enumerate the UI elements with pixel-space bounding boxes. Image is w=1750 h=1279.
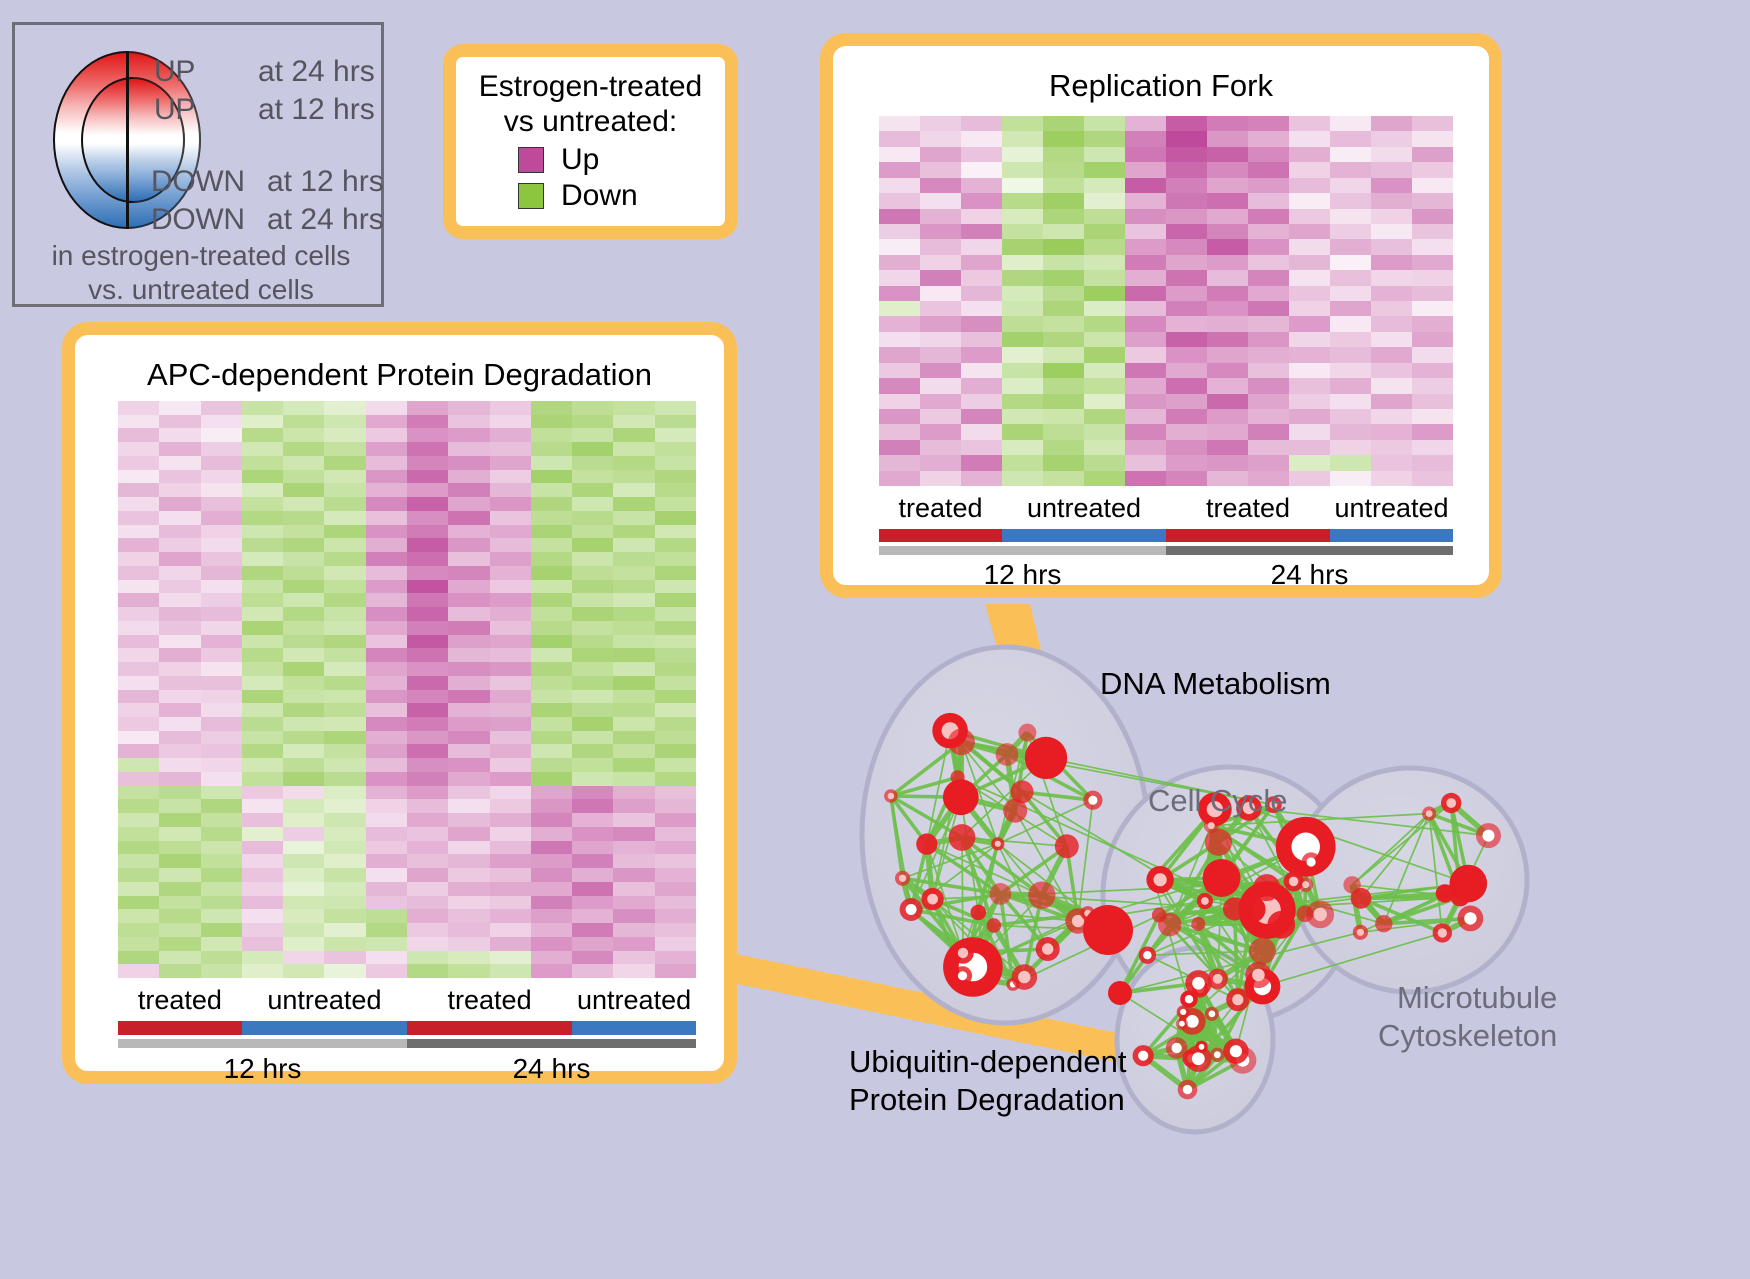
heatmap-cell [1330, 286, 1371, 301]
heatmap-cell [1207, 440, 1248, 455]
network-node [948, 729, 975, 756]
heatmap-cell [1248, 332, 1289, 347]
heatmap-cell [490, 841, 531, 855]
network-edge [1235, 884, 1469, 909]
network-edge [1361, 897, 1460, 898]
network-edge [1198, 881, 1293, 924]
network-edge [1000, 894, 1047, 949]
heatmap-cell [655, 882, 696, 896]
network-edge [1352, 885, 1360, 933]
heatmap-cell [159, 813, 200, 827]
wheel-center-divider [126, 51, 129, 229]
heatmap-cell [1248, 363, 1289, 378]
network-edge [1211, 826, 1234, 909]
heatmap-cell [1166, 286, 1207, 301]
network-edge [1213, 847, 1306, 886]
network-edge [1027, 733, 1066, 847]
heatmap-cell [879, 363, 920, 378]
network-edge [903, 878, 933, 899]
heatmap-cell [1330, 409, 1371, 424]
network-edge [958, 742, 962, 777]
network-edge [933, 899, 1025, 977]
heatmap-cell [366, 566, 407, 580]
network-edge [1177, 989, 1200, 1048]
network-edge [1183, 999, 1189, 1012]
heatmap-cell [159, 827, 200, 841]
heatmap-cell [448, 593, 489, 607]
network-edge [961, 797, 1015, 811]
network-edge [1258, 881, 1293, 975]
network-edge [1120, 915, 1159, 993]
heatmap-cell [159, 580, 200, 594]
wheel-label-down-24: DOWN [151, 203, 245, 237]
heatmap-cell [531, 896, 572, 910]
heatmap-cell [1371, 471, 1412, 486]
network-node-center [1088, 796, 1097, 805]
network-node [1083, 905, 1133, 955]
network-edge [1305, 914, 1320, 915]
heatmap-cell [283, 648, 324, 662]
heatmap-cell [1289, 147, 1330, 162]
heatmap-cell [531, 428, 572, 442]
heatmap-cell [201, 580, 242, 594]
heatmap-cell [118, 607, 159, 621]
heatmap-cell [1371, 332, 1412, 347]
heatmap-cell [283, 690, 324, 704]
heatmap-cell [961, 440, 1002, 455]
network-edge [1022, 792, 1067, 846]
network-edge [1213, 886, 1235, 909]
heatmap-cell [201, 538, 242, 552]
heatmap-cell [201, 854, 242, 868]
network-edge [1170, 925, 1238, 1000]
heatmap-cell [1371, 455, 1412, 470]
heatmap-cell [1125, 131, 1166, 146]
network-edge [1192, 1021, 1201, 1046]
heatmap-cell [961, 116, 1002, 131]
heatmap-cell [879, 455, 920, 470]
heatmap-cell [879, 471, 920, 486]
network-node [1191, 917, 1205, 931]
network-edge [1429, 814, 1468, 884]
heatmap-cell [1289, 455, 1330, 470]
heatmap-cell [118, 882, 159, 896]
heatmap-cell [490, 415, 531, 429]
heatmap-cell [283, 882, 324, 896]
heatmap-cell [1330, 378, 1371, 393]
heatmap-cell [1412, 239, 1453, 254]
heatmap-cell [613, 566, 654, 580]
heatmap-cell [961, 193, 1002, 208]
heatmap-cell [490, 703, 531, 717]
heatmap-cell [961, 301, 1002, 316]
heatmap-cell [448, 868, 489, 882]
heatmap-cell [1412, 116, 1453, 131]
heatmap-cell [201, 964, 242, 978]
heatmap-cell [118, 937, 159, 951]
network-edge [1205, 888, 1267, 901]
network-node [991, 837, 1004, 850]
network-edge [1267, 862, 1311, 910]
heatmap-cell [572, 456, 613, 470]
network-edge [963, 976, 1014, 985]
heatmap-cell [961, 332, 1002, 347]
cluster-label-dna-metabolism: DNA Metabolism [1100, 666, 1331, 702]
heatmap-cell [613, 744, 654, 758]
heatmap-cell [448, 717, 489, 731]
heatmap-cell [920, 193, 961, 208]
network-edge [1213, 885, 1306, 886]
heatmap-cell [118, 703, 159, 717]
heatmap-cell [283, 758, 324, 772]
heatmap-cell [242, 415, 283, 429]
network-edge [1451, 803, 1468, 884]
heatmap-cell [531, 799, 572, 813]
heatmap-cell [283, 937, 324, 951]
heatmap-cell [490, 964, 531, 978]
heatmap-cell [366, 690, 407, 704]
heatmap-cell [407, 511, 448, 525]
network-edge [1252, 909, 1258, 975]
heatmap-cell [1125, 209, 1166, 224]
heatmap-cell [1330, 224, 1371, 239]
network-edge [1154, 878, 1268, 911]
heatmap-cell [1002, 178, 1043, 193]
network-edge [1160, 880, 1252, 910]
network-edge [1024, 895, 1042, 977]
network-edge [1189, 999, 1217, 1054]
heatmap-cell [407, 580, 448, 594]
network-edge [998, 733, 1028, 844]
heatmap-cell [407, 717, 448, 731]
heatmap-cell [1289, 209, 1330, 224]
heatmap-cell [159, 497, 200, 511]
heatmap-cell [201, 703, 242, 717]
wheel-time-up-24: at 24 hrs [258, 55, 375, 89]
heatmap-cell [490, 772, 531, 786]
heatmap-cell [1371, 440, 1412, 455]
network-edge [1147, 951, 1262, 955]
network-edge [1048, 921, 1078, 949]
heatmap-cell [879, 178, 920, 193]
heatmap-cell [118, 923, 159, 937]
heatmap-cell [572, 744, 613, 758]
network-edge [933, 797, 961, 899]
heatmap-cell [407, 552, 448, 566]
heatmap-cell [118, 428, 159, 442]
heatmap-cell [366, 937, 407, 951]
heatmap-cell [920, 409, 961, 424]
network-edge [963, 894, 1001, 976]
heatmap-cell [407, 497, 448, 511]
network-node [1253, 874, 1280, 901]
heatmap-cell [1371, 378, 1412, 393]
heatmap-cell [879, 131, 920, 146]
heatmap-cell [407, 827, 448, 841]
network-edge [1200, 989, 1217, 1054]
network-node-center [1314, 908, 1327, 921]
network-edge [1294, 881, 1305, 913]
heatmap-cell [242, 717, 283, 731]
heatmap-cell [1043, 363, 1084, 378]
network-edge [1217, 1051, 1236, 1055]
network-node [1158, 913, 1182, 937]
heatmap-cell [366, 552, 407, 566]
heatmap-cell [324, 401, 365, 415]
heatmap-cell [572, 552, 613, 566]
heatmap-cell [1207, 286, 1248, 301]
network-node-center [1302, 881, 1309, 888]
heatmap-cell [920, 378, 961, 393]
network-edge [1007, 733, 1027, 755]
network-edge [950, 731, 958, 778]
heatmap-cell [366, 703, 407, 717]
network-edge [1211, 826, 1213, 886]
heatmap-cell [366, 635, 407, 649]
heatmap-cell [531, 442, 572, 456]
heatmap-cell [920, 270, 961, 285]
network-edge [1143, 1056, 1198, 1059]
heatmap-cell [1084, 424, 1125, 439]
heatmap-cell [448, 566, 489, 580]
heatmap-cell [324, 827, 365, 841]
heatmap-cell [118, 841, 159, 855]
heatmap-cell [242, 580, 283, 594]
heatmap-cell [1084, 409, 1125, 424]
network-edge [911, 910, 963, 953]
heatmap-cell [920, 116, 961, 131]
heatmap-cell [490, 442, 531, 456]
heatmap-cell [1248, 209, 1289, 224]
network-edge [1249, 808, 1305, 914]
network-edge [961, 742, 962, 797]
network-node-center [1084, 910, 1091, 917]
heatmap-cell [490, 813, 531, 827]
network-edge [1182, 999, 1189, 1024]
network-edge [1159, 878, 1221, 915]
network-node-center [888, 793, 895, 800]
heatmap-cell [118, 470, 159, 484]
network-edge [1252, 888, 1266, 910]
heatmap-cell [448, 909, 489, 923]
heatmap-cell [407, 937, 448, 951]
heatmap-cell [159, 415, 200, 429]
heatmap-cell [1084, 471, 1125, 486]
heatmap-cell [1412, 378, 1453, 393]
heatmap-cell [655, 621, 696, 635]
network-node-center [1042, 943, 1053, 954]
heatmap-cell [366, 951, 407, 965]
network-edge [1212, 1014, 1236, 1051]
heatmap-cell [1207, 209, 1248, 224]
heatmap-cell [1043, 193, 1084, 208]
heatmap-cell [407, 703, 448, 717]
heatmap-cell [118, 552, 159, 566]
heatmap-cell [366, 772, 407, 786]
heatmap-cell [118, 566, 159, 580]
network-node [943, 937, 1003, 997]
heatmap-cell [1248, 409, 1289, 424]
treatment-segment [1002, 529, 1166, 542]
heatmap-cell [1207, 178, 1248, 193]
heatmap-cell [118, 690, 159, 704]
heatmap-cell [655, 909, 696, 923]
heatmap-cell [1248, 424, 1289, 439]
heatmap-cell [572, 937, 613, 951]
network-edge [998, 792, 1022, 844]
timepoint-segment [1166, 546, 1453, 555]
network-edge [1160, 842, 1218, 880]
heatmap-cell [1289, 424, 1330, 439]
cluster-label-cell-cycle: Cell Cycle [1148, 783, 1288, 819]
heatmap-cell [324, 703, 365, 717]
network-edge [927, 844, 963, 953]
cluster-label-ubiquitin-line1: Ubiquitin-dependent [849, 1043, 1127, 1081]
heatmap-cell [1371, 409, 1412, 424]
legend-item-up: Up [518, 143, 599, 177]
network-node-center [1464, 912, 1476, 924]
panel-replication-fork: Replication Fork treateduntreatedtreated… [820, 33, 1502, 598]
heatmap-cell [283, 483, 324, 497]
heatmap-cell [159, 401, 200, 415]
network-node [895, 871, 910, 886]
heatmap-cell [613, 442, 654, 456]
treatment-segment [572, 1021, 696, 1035]
heatmap-cell [324, 786, 365, 800]
heatmap-cell [613, 841, 654, 855]
heatmap-cell [1002, 347, 1043, 362]
heatmap-cell [1289, 301, 1330, 316]
network-edge [1384, 918, 1471, 923]
heatmap-cell [201, 813, 242, 827]
heatmap-cell [1043, 270, 1084, 285]
heatmap-cell [324, 717, 365, 731]
network-edge [1027, 733, 1093, 801]
network-node-center [1192, 1052, 1205, 1065]
network-node [1166, 1037, 1188, 1059]
heatmap-cell [159, 703, 200, 717]
heatmap-cell [1002, 270, 1043, 285]
heatmap-cell [613, 662, 654, 676]
heatmap-cell [118, 635, 159, 649]
heatmap-cell [1412, 455, 1453, 470]
network-edge [1170, 878, 1222, 925]
network-node [921, 888, 943, 910]
network-edge [1182, 1024, 1243, 1060]
heatmap-cell [1166, 301, 1207, 316]
heatmap-cell [366, 799, 407, 813]
network-node [1476, 823, 1501, 848]
network-node-center [1010, 981, 1016, 987]
heatmap-cell [1043, 131, 1084, 146]
cluster-microtubule [1293, 768, 1527, 992]
network-edge [1170, 925, 1263, 951]
heatmap-cell [159, 607, 200, 621]
heatmap-cell [920, 255, 961, 270]
network-edge [1442, 918, 1470, 933]
heatmap-cell [324, 635, 365, 649]
heatmap-cell [655, 813, 696, 827]
heatmap-cell [1166, 193, 1207, 208]
heatmap-cell [366, 676, 407, 690]
heatmap-cell [324, 415, 365, 429]
legend-title: Estrogen-treated vs untreated: [456, 69, 725, 140]
network-edge [1211, 826, 1306, 847]
heatmap-cell [531, 744, 572, 758]
heatmap-cell [961, 224, 1002, 239]
heatmap-cell [1412, 255, 1453, 270]
heatmap-cell [407, 951, 448, 965]
network-edge [963, 894, 1000, 953]
network-edge [903, 844, 998, 879]
network-edge [1222, 847, 1306, 878]
network-edge [1352, 885, 1361, 899]
heatmap-cell [242, 813, 283, 827]
network-edge [1120, 993, 1217, 1055]
heatmap-cell [118, 662, 159, 676]
heatmap-cell [1248, 116, 1289, 131]
heatmap-cell [490, 552, 531, 566]
heatmap-cell [448, 841, 489, 855]
network-edge [1445, 884, 1468, 894]
heatmap-cell [407, 428, 448, 442]
heatmap-cell [1002, 378, 1043, 393]
network-edge [1024, 913, 1087, 977]
heatmap-cell [407, 621, 448, 635]
heatmap-cell [531, 552, 572, 566]
network-edge [1202, 914, 1306, 1047]
network-edge [1451, 803, 1460, 897]
heatmap-cell [613, 635, 654, 649]
network-node-center [1252, 969, 1265, 982]
network-edge [1222, 878, 1263, 951]
heatmap-cell [572, 799, 613, 813]
heatmap-cell [159, 525, 200, 539]
heatmap-cell [961, 286, 1002, 301]
heatmap-cell [1043, 301, 1084, 316]
heatmap-cell [655, 470, 696, 484]
heatmap-cell [531, 470, 572, 484]
heatmap-cell [1289, 286, 1330, 301]
heatmap-cell [490, 676, 531, 690]
heatmap-cell [324, 882, 365, 896]
heatmap-cell [613, 717, 654, 731]
heatmap-cell [448, 937, 489, 951]
network-edge [1198, 1014, 1212, 1059]
legend-item-up-label: Up [561, 143, 599, 177]
network-edge [961, 797, 979, 912]
heatmap-cell [961, 178, 1002, 193]
heatmap-cell [283, 868, 324, 882]
heatmap-cell [283, 841, 324, 855]
heatmap-cell [531, 758, 572, 772]
network-edge [891, 742, 962, 796]
heatmap-cell [1002, 363, 1043, 378]
heatmap-cell [655, 799, 696, 813]
network-edge [1088, 913, 1108, 930]
cluster-dna-metabolism [862, 647, 1148, 1023]
network-node-center [1196, 985, 1204, 993]
heatmap-cell [1002, 239, 1043, 254]
heatmap-cell [490, 923, 531, 937]
heatmap-cell [159, 676, 200, 690]
network-edge [1235, 909, 1238, 1000]
heatmap-cell [448, 621, 489, 635]
heatmap-cell [448, 483, 489, 497]
timepoint-segment [118, 1039, 407, 1048]
heatmap-cell [572, 662, 613, 676]
heatmap-cell [531, 964, 572, 978]
